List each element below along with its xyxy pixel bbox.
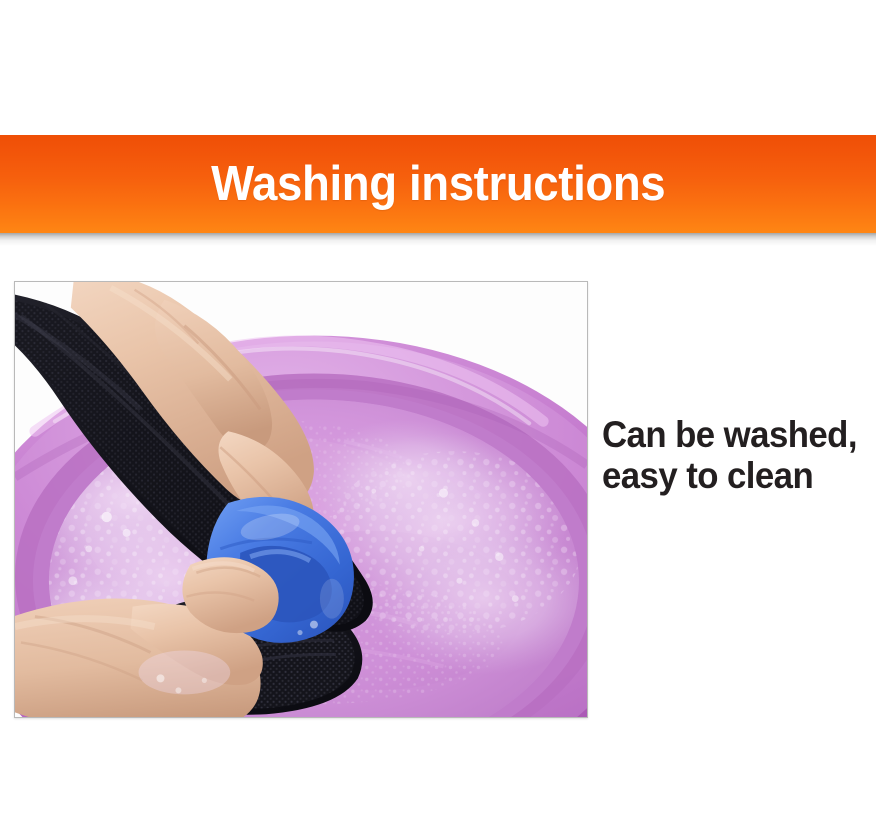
washing-photo-frame [14,281,588,718]
banner-drop-shadow [0,233,876,246]
washing-instructions-banner: Washing instructions [0,135,876,233]
top-white-spacer [0,0,876,135]
caption-line-2: easy to clean [602,455,852,496]
banner-title: Washing instructions [211,160,665,209]
caption-line-1: Can be washed, [602,414,852,455]
caption-block: Can be washed, easy to clean [602,414,868,496]
washing-photo [15,282,587,717]
